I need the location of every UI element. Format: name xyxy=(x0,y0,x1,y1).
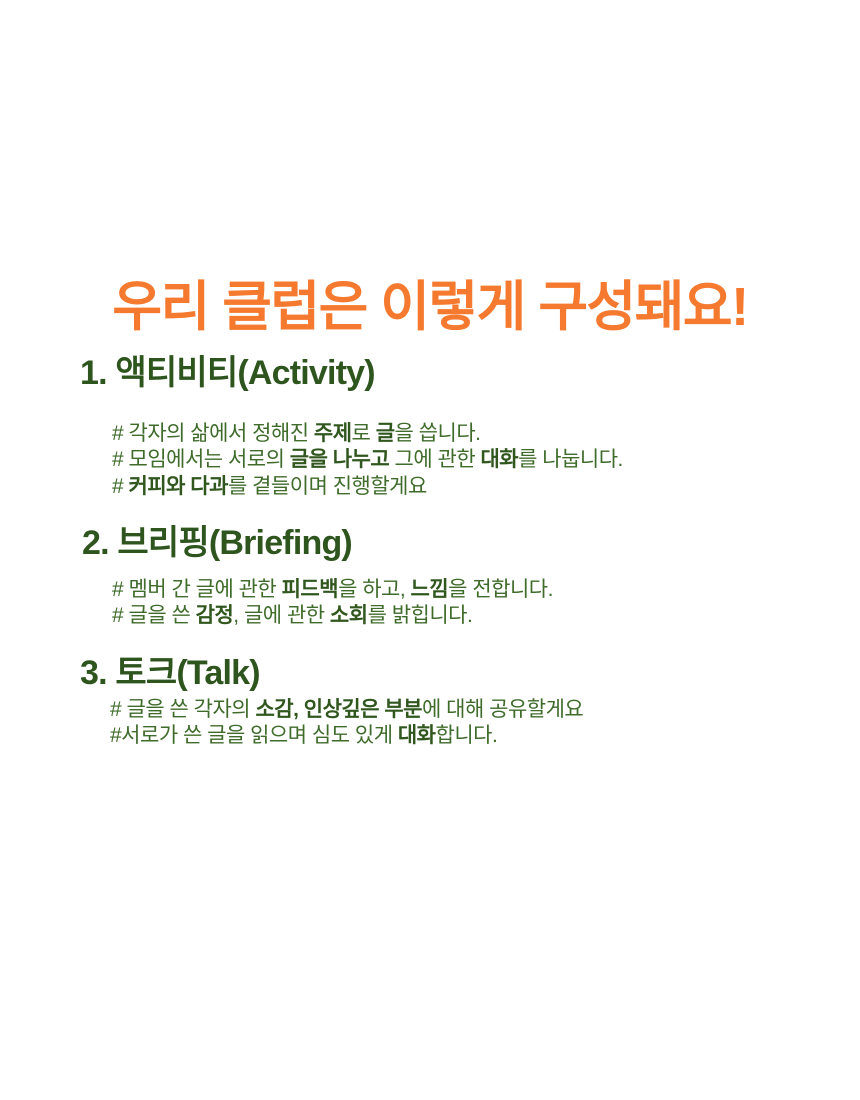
section-body-activity: # 각자의 삶에서 정해진 주제로 글을 씁니다.# 모임에서는 서로의 글을 … xyxy=(0,421,860,500)
bullet-text: #서로가 쓴 글을 읽으며 심도 있게 xyxy=(110,724,398,747)
bullet-emphasis: 글을 나누고 xyxy=(290,448,389,471)
bullet-emphasis: 소회 xyxy=(330,604,368,627)
bullet-emphasis: 소감, 인상깊은 부분 xyxy=(255,698,422,721)
bullet-text: 로 xyxy=(352,422,376,445)
bullet-text: # 각자의 삶에서 정해진 xyxy=(112,422,314,445)
bullet-line: # 글을 쓴 각자의 소감, 인상깊은 부분에 대해 공유할게요 xyxy=(110,697,860,723)
bullet-text: # 글을 쓴 xyxy=(112,604,196,627)
bullet-text: # xyxy=(112,475,129,498)
club-structure-card: 우리 클럽은 이렇게 구성돼요! 1. 액티비티(Activity) # 각자의… xyxy=(0,0,860,1100)
section-heading-talk: 3. 토크(Talk) xyxy=(0,652,860,695)
section-briefing: 2. 브리핑(Briefing) # 멤버 간 글에 관한 피드백을 하고, 느… xyxy=(0,522,860,630)
section-body-talk: # 글을 쓴 각자의 소감, 인상깊은 부분에 대해 공유할게요#서로가 쓴 글… xyxy=(0,697,860,750)
bullet-emphasis: 대화 xyxy=(398,724,436,747)
section-activity: 1. 액티비티(Activity) # 각자의 삶에서 정해진 주제로 글을 씁… xyxy=(0,352,860,500)
section-talk: 3. 토크(Talk) # 글을 쓴 각자의 소감, 인상깊은 부분에 대해 공… xyxy=(0,652,860,750)
section-list: 1. 액티비티(Activity) # 각자의 삶에서 정해진 주제로 글을 씁… xyxy=(0,352,860,750)
bullet-text: , 글에 관한 xyxy=(233,604,330,627)
section-body-briefing: # 멤버 간 글에 관한 피드백을 하고, 느낌을 전합니다.# 글을 쓴 감정… xyxy=(0,577,860,630)
bullet-line: # 모임에서는 서로의 글을 나누고 그에 관한 대화를 나눕니다. xyxy=(112,447,860,473)
bullet-line: #서로가 쓴 글을 읽으며 심도 있게 대화합니다. xyxy=(110,723,860,749)
bullet-text: 합니다. xyxy=(436,724,498,747)
bullet-text: 를 곁들이며 진행할게요 xyxy=(228,475,427,498)
bullet-text: # 멤버 간 글에 관한 xyxy=(112,578,282,601)
bullet-emphasis: 글 xyxy=(376,422,395,445)
page-title: 우리 클럽은 이렇게 구성돼요! xyxy=(0,276,860,338)
bullet-text: 를 나눕니다. xyxy=(518,448,623,471)
bullet-text: 을 씁니다. xyxy=(395,422,481,445)
bullet-line: # 멤버 간 글에 관한 피드백을 하고, 느낌을 전합니다. xyxy=(112,577,860,603)
section-heading-briefing: 2. 브리핑(Briefing) xyxy=(0,522,860,565)
bullet-text: 그에 관한 xyxy=(389,448,480,471)
bullet-text: 에 대해 공유할게요 xyxy=(422,698,583,721)
bullet-text: # 모임에서는 서로의 xyxy=(112,448,290,471)
bullet-emphasis: 주제 xyxy=(314,422,352,445)
bullet-text: 을 전합니다. xyxy=(448,578,553,601)
bullet-emphasis: 느낌 xyxy=(411,578,449,601)
bullet-text: 를 밝힙니다. xyxy=(368,604,473,627)
bullet-emphasis: 대화 xyxy=(480,448,518,471)
bullet-line: # 커피와 다과를 곁들이며 진행할게요 xyxy=(112,474,860,500)
bullet-emphasis: 감정 xyxy=(196,604,234,627)
bullet-emphasis: 커피와 다과 xyxy=(129,475,228,498)
bullet-emphasis: 피드백 xyxy=(282,578,338,601)
bullet-line: # 글을 쓴 감정, 글에 관한 소회를 밝힙니다. xyxy=(112,603,860,629)
section-heading-activity: 1. 액티비티(Activity) xyxy=(0,352,860,395)
bullet-text: 을 하고, xyxy=(338,578,410,601)
bullet-line: # 각자의 삶에서 정해진 주제로 글을 씁니다. xyxy=(112,421,860,447)
bullet-text: # 글을 쓴 각자의 xyxy=(110,698,255,721)
